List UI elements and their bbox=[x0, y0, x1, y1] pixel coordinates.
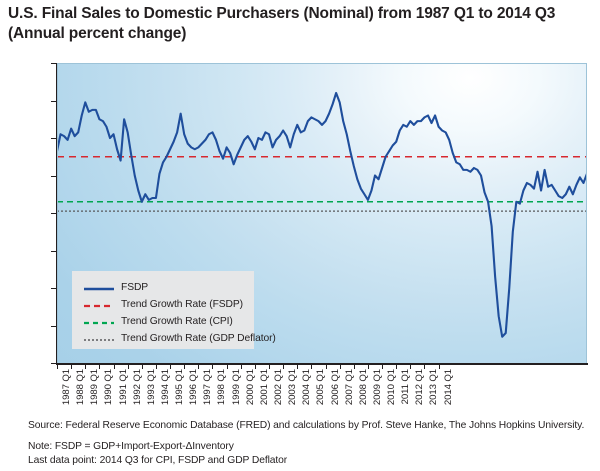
x-tick-mark bbox=[57, 364, 58, 369]
legend-swatch-dotted bbox=[84, 333, 114, 345]
legend-swatch-dashed-small bbox=[84, 316, 114, 328]
x-tick-mark bbox=[198, 364, 199, 369]
y-tick-mark bbox=[51, 326, 56, 327]
y-tick-mark bbox=[51, 213, 56, 214]
x-tick-label: 2013 Q1 bbox=[428, 369, 439, 405]
y-tick-mark bbox=[51, 101, 56, 102]
x-tick-label: 2011 Q1 bbox=[400, 369, 411, 404]
x-tick-mark bbox=[396, 364, 397, 369]
x-tick-mark bbox=[283, 364, 284, 369]
x-tick-mark bbox=[212, 364, 213, 369]
x-tick-mark bbox=[99, 364, 100, 369]
note-line-1: Note: FSDP = GDP+Import-Export-ΔInventor… bbox=[28, 441, 234, 452]
x-tick-label: 1991 Q1 bbox=[118, 369, 129, 405]
legend-label: Trend Growth Rate (FSDP) bbox=[121, 299, 243, 310]
x-axis bbox=[56, 363, 588, 365]
x-tick-label: 1998 Q1 bbox=[216, 369, 227, 405]
x-tick-label: 2010 Q1 bbox=[386, 369, 397, 405]
y-tick-mark bbox=[51, 176, 56, 177]
source-note: Source: Federal Reserve Economic Databas… bbox=[28, 420, 584, 431]
x-tick-label: 2004 Q1 bbox=[301, 369, 312, 405]
x-tick-mark bbox=[368, 364, 369, 369]
x-tick-label: 1988 Q1 bbox=[75, 369, 86, 405]
legend-swatch-solid bbox=[84, 282, 114, 294]
x-tick-mark bbox=[142, 364, 143, 369]
legend-item[interactable]: Trend Growth Rate (FSDP) bbox=[84, 297, 243, 312]
note-line-2: Last data point: 2014 Q3 for CPI, FSDP a… bbox=[28, 455, 287, 466]
x-tick-label: 1995 Q1 bbox=[174, 369, 185, 405]
x-tick-mark bbox=[269, 364, 270, 369]
x-tick-mark bbox=[424, 364, 425, 369]
x-tick-label: 1989 Q1 bbox=[89, 369, 100, 405]
y-tick-mark bbox=[51, 363, 56, 364]
x-tick-label: 2002 Q1 bbox=[273, 369, 284, 405]
x-tick-label: 1992 Q1 bbox=[132, 369, 143, 405]
x-tick-label: 2014 Q1 bbox=[443, 369, 454, 405]
x-tick-mark bbox=[382, 364, 383, 369]
y-tick-mark bbox=[51, 251, 56, 252]
x-tick-label: 2005 Q1 bbox=[315, 369, 326, 405]
x-tick-mark bbox=[227, 364, 228, 369]
legend-label: Trend Growth Rate (GDP Deflator) bbox=[121, 333, 276, 344]
x-tick-mark bbox=[410, 364, 411, 369]
x-tick-mark bbox=[241, 364, 242, 369]
x-tick-label: 1997 Q1 bbox=[202, 369, 213, 405]
x-tick-mark bbox=[170, 364, 171, 369]
chart-legend: FSDPTrend Growth Rate (FSDP)Trend Growth… bbox=[72, 271, 254, 349]
x-tick-mark bbox=[255, 364, 256, 369]
x-tick-mark bbox=[340, 364, 341, 369]
x-tick-label: 1987 Q1 bbox=[61, 369, 72, 405]
x-tick-mark bbox=[85, 364, 86, 369]
x-tick-label: 2009 Q1 bbox=[372, 369, 383, 405]
legend-item[interactable]: Trend Growth Rate (GDP Deflator) bbox=[84, 331, 276, 346]
y-axis bbox=[56, 63, 57, 364]
x-tick-label: 2012 Q1 bbox=[414, 369, 425, 405]
x-tick-mark bbox=[311, 364, 312, 369]
x-tick-label: 2006 Q1 bbox=[330, 369, 341, 405]
x-tick-mark bbox=[354, 364, 355, 369]
legend-swatch-dashed bbox=[84, 299, 114, 311]
x-tick-label: 1990 Q1 bbox=[103, 369, 114, 405]
x-tick-label: 1994 Q1 bbox=[160, 369, 171, 405]
x-tick-label: 2000 Q1 bbox=[245, 369, 256, 405]
x-tick-mark bbox=[439, 364, 440, 369]
x-tick-label: 1999 Q1 bbox=[231, 369, 242, 405]
legend-item[interactable]: FSDP bbox=[84, 280, 148, 295]
x-tick-label: 2001 Q1 bbox=[259, 369, 270, 405]
x-tick-mark bbox=[156, 364, 157, 369]
x-tick-label: 1993 Q1 bbox=[146, 369, 157, 405]
legend-label: FSDP bbox=[121, 282, 148, 293]
y-tick-mark bbox=[51, 138, 56, 139]
y-tick-mark bbox=[51, 63, 56, 64]
x-tick-label: 2007 Q1 bbox=[344, 369, 355, 405]
y-tick-mark bbox=[51, 288, 56, 289]
x-tick-mark bbox=[128, 364, 129, 369]
legend-label: Trend Growth Rate (CPI) bbox=[121, 316, 233, 327]
x-tick-mark bbox=[71, 364, 72, 369]
x-tick-mark bbox=[297, 364, 298, 369]
x-tick-label: 2003 Q1 bbox=[287, 369, 298, 405]
legend-item[interactable]: Trend Growth Rate (CPI) bbox=[84, 314, 233, 329]
x-tick-mark bbox=[184, 364, 185, 369]
page-title: U.S. Final Sales to Domestic Purchasers … bbox=[8, 4, 592, 44]
x-tick-label: 2008 Q1 bbox=[358, 369, 369, 405]
x-tick-mark bbox=[326, 364, 327, 369]
x-tick-label: 1996 Q1 bbox=[188, 369, 199, 405]
x-tick-mark bbox=[114, 364, 115, 369]
